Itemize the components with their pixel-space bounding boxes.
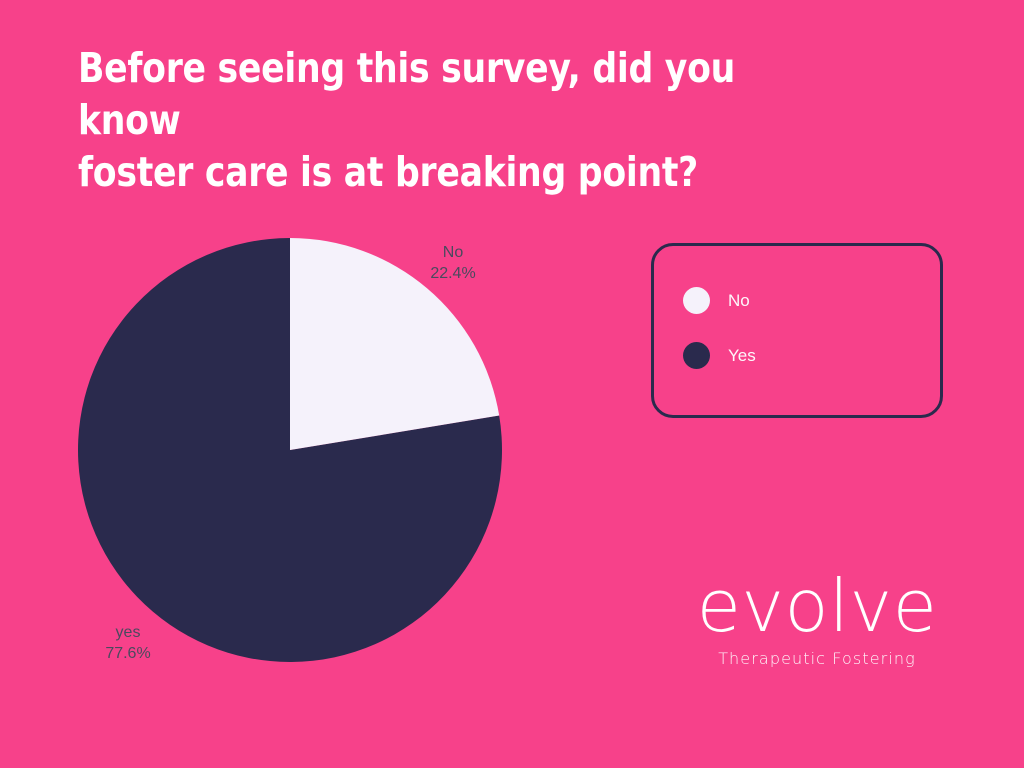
pie-slice-label-no: No 22.4% <box>398 242 508 284</box>
legend-label-yes: Yes <box>728 347 756 364</box>
legend-label-no: No <box>728 292 750 309</box>
brand-logo: evolve Therapeutic Fostering <box>692 570 942 669</box>
legend-item-no[interactable]: No <box>683 287 750 314</box>
legend-swatch-no-icon <box>683 287 710 314</box>
brand-logo-wordmark: evolve <box>692 570 942 642</box>
legend-swatch-yes-icon <box>683 342 710 369</box>
chart-legend: No Yes <box>651 243 943 418</box>
brand-logo-tagline: Therapeutic Fostering <box>692 649 942 669</box>
slide-canvas: Before seeing this survey, did you know … <box>0 0 1024 768</box>
legend-item-yes[interactable]: Yes <box>683 342 756 369</box>
pie-slice-label-yes: yes 77.6% <box>72 622 184 664</box>
